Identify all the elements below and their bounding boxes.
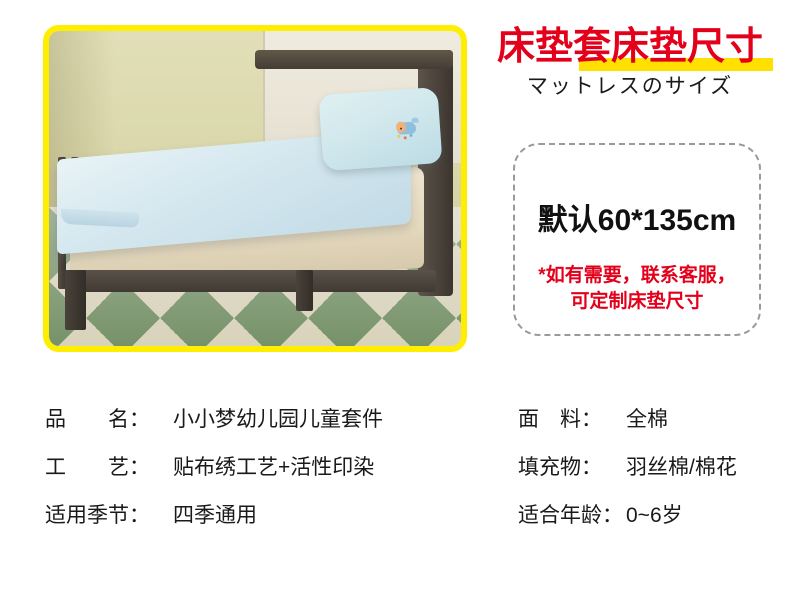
spec-row-age: 适合年龄： 0~6岁 [518,504,778,528]
spec-value-craft: 贴布绣工艺+活性印染 [173,456,374,480]
bed-leg-left [65,270,86,330]
bed-headboard-rail [255,50,453,69]
spec-row-season: 适用季节： 四季通用 [45,504,465,528]
spec-label-craft: 工 艺： [45,456,173,480]
pillow [318,87,442,171]
product-photo[interactable] [43,25,467,352]
bed-leg-middle [296,270,312,311]
spec-label-product-name: 品 名： [45,408,173,432]
spec-row-craft: 工 艺： 贴布绣工艺+活性印染 [45,456,465,480]
page-title: 床垫套床垫尺寸 [497,24,763,70]
spec-label-season: 适用季节： [45,504,173,528]
custom-size-note-line-2: 可定制床垫尺寸 [515,289,759,315]
spec-label-fabric: 面 料： [518,408,626,432]
size-info-box: 默认60*135cm *如有需要，联系客服， 可定制床垫尺寸 [513,143,761,336]
spec-value-fabric: 全棉 [626,408,668,432]
spec-value-filling: 羽丝棉/棉花 [626,456,737,480]
spec-label-filling: 填充物： [518,456,626,480]
spec-row-product-name: 品 名： 小小梦幼儿园儿童套件 [45,408,465,432]
specification-section: 品 名： 小小梦幼儿园儿童套件 工 艺： 贴布绣工艺+活性印染 适用季节： 四季… [0,408,790,548]
spec-value-season: 四季通用 [173,504,257,528]
title-block: 床垫套床垫尺寸 マットレスのサイズ [480,24,780,100]
page-title-text: 床垫套床垫尺寸 [497,26,763,68]
page-subtitle: マットレスのサイズ [480,74,780,100]
specs-column-left: 品 名： 小小梦幼儿园儿童套件 工 艺： 贴布绣工艺+活性印染 适用季节： 四季… [45,408,465,552]
custom-size-note: *如有需要，联系客服， 可定制床垫尺寸 [515,263,759,315]
spec-value-age: 0~6岁 [626,504,683,528]
specs-column-right: 面 料： 全棉 填充物： 羽丝棉/棉花 适合年龄： 0~6岁 [518,408,778,552]
elephant-embroidery-icon [395,117,422,137]
mattress-cover-fold [61,209,139,228]
spec-label-age: 适合年龄： [518,504,626,528]
product-photo-scene [49,31,461,346]
spec-row-fabric: 面 料： 全棉 [518,408,778,432]
spec-value-product-name: 小小梦幼儿园儿童套件 [173,408,383,432]
custom-size-note-line-1: *如有需要，联系客服， [515,263,759,289]
bed-front-rail [65,270,436,292]
spec-row-filling: 填充物： 羽丝棉/棉花 [518,456,778,480]
default-size-label: 默认60*135cm [515,195,759,239]
